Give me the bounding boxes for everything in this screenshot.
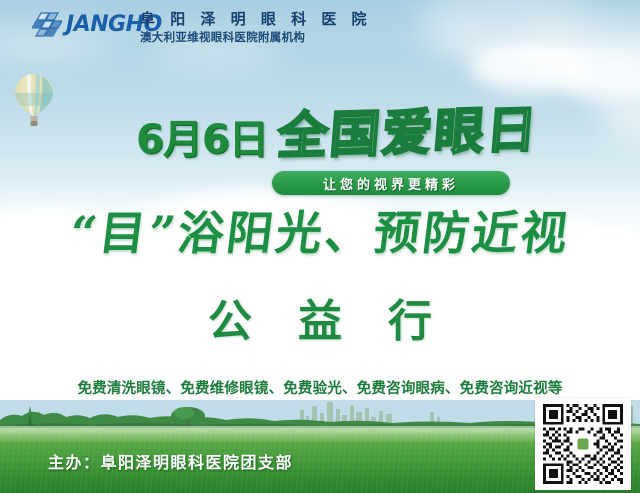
hospital-affiliation: 澳大利亚维视眼科医院附属机构 bbox=[140, 30, 372, 44]
qr-code[interactable] bbox=[535, 398, 631, 490]
organizer-line: 主办：阜阳泽明眼科医院团支部 bbox=[48, 449, 293, 473]
qr-center-logo-icon bbox=[573, 434, 594, 455]
poster-root: JANGHO 阜 阳 泽 明 眼 科 医 院 澳大利亚维视眼科医院附属机构 6月… bbox=[0, 0, 640, 493]
event-name: 全国爱眼日 bbox=[276, 105, 541, 162]
jangho-cross-logo-icon bbox=[32, 11, 62, 39]
services-list: 免费清洗眼镜、免费维修眼镜、免费验光、免费咨询眼病、免费咨询近视等 bbox=[0, 377, 640, 398]
qr-matrix bbox=[538, 401, 628, 487]
main-headline: “目”浴阳光、预防近视 bbox=[0, 210, 640, 256]
hospital-identity: 阜 阳 泽 明 眼 科 医 院 澳大利亚维视眼科医院附属机构 bbox=[140, 10, 372, 44]
title-row: 6月6日 全国爱眼日 bbox=[0, 112, 640, 174]
slogan-text: 让您的视界更精彩 bbox=[323, 174, 459, 193]
header-bar: JANGHO 阜 阳 泽 明 眼 科 医 院 澳大利亚维视眼科医院附属机构 bbox=[0, 0, 640, 52]
hospital-name: 阜 阳 泽 明 眼 科 医 院 bbox=[140, 10, 372, 29]
sub-headline: 公益行 bbox=[0, 300, 640, 344]
slogan-ribbon: 让您的视界更精彩 bbox=[272, 171, 510, 195]
event-date: 6月6日 bbox=[136, 120, 268, 160]
